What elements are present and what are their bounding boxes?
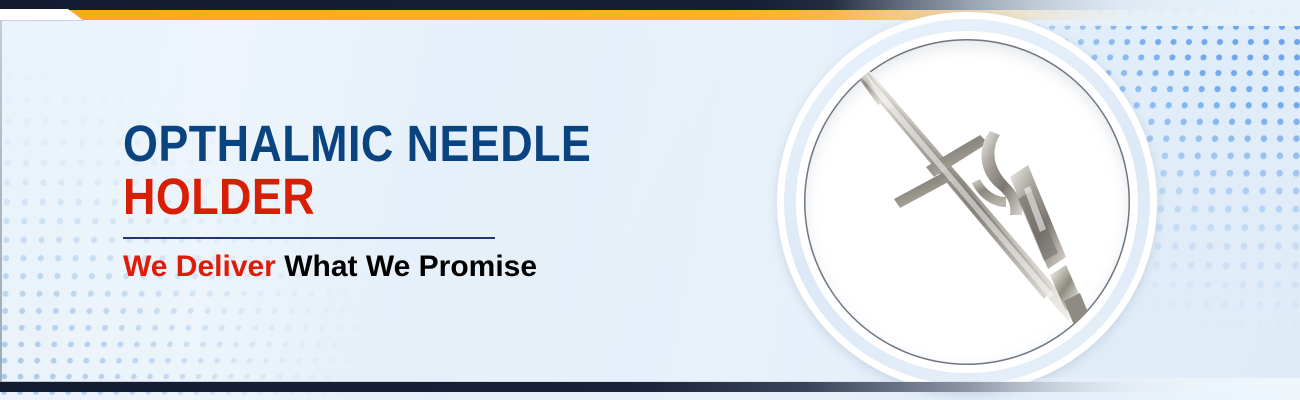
bottom-orange-bar [0, 392, 1300, 400]
headline-divider-rule [123, 237, 495, 239]
tagline-accent: We Deliver [123, 250, 276, 283]
headline-line-1: OPTHALMIC NEEDLE [123, 118, 669, 170]
needle-holder-icon [804, 39, 1130, 365]
promo-banner: OPTHALMIC NEEDLE HOLDER We Deliver What … [0, 0, 1300, 400]
bottom-navy-bar [0, 382, 1300, 392]
top-left-notch-rule [0, 20, 84, 21]
top-navy-bar [0, 0, 1300, 10]
headline-line-2: HOLDER [123, 170, 669, 224]
product-image-disc [804, 39, 1130, 365]
left-edge-rule [0, 20, 2, 382]
banner-copy: OPTHALMIC NEEDLE HOLDER We Deliver What … [123, 118, 743, 284]
product-medallion [777, 12, 1157, 392]
tagline-rest: What We Promise [276, 250, 537, 283]
tagline: We Deliver What We Promise [123, 250, 743, 284]
